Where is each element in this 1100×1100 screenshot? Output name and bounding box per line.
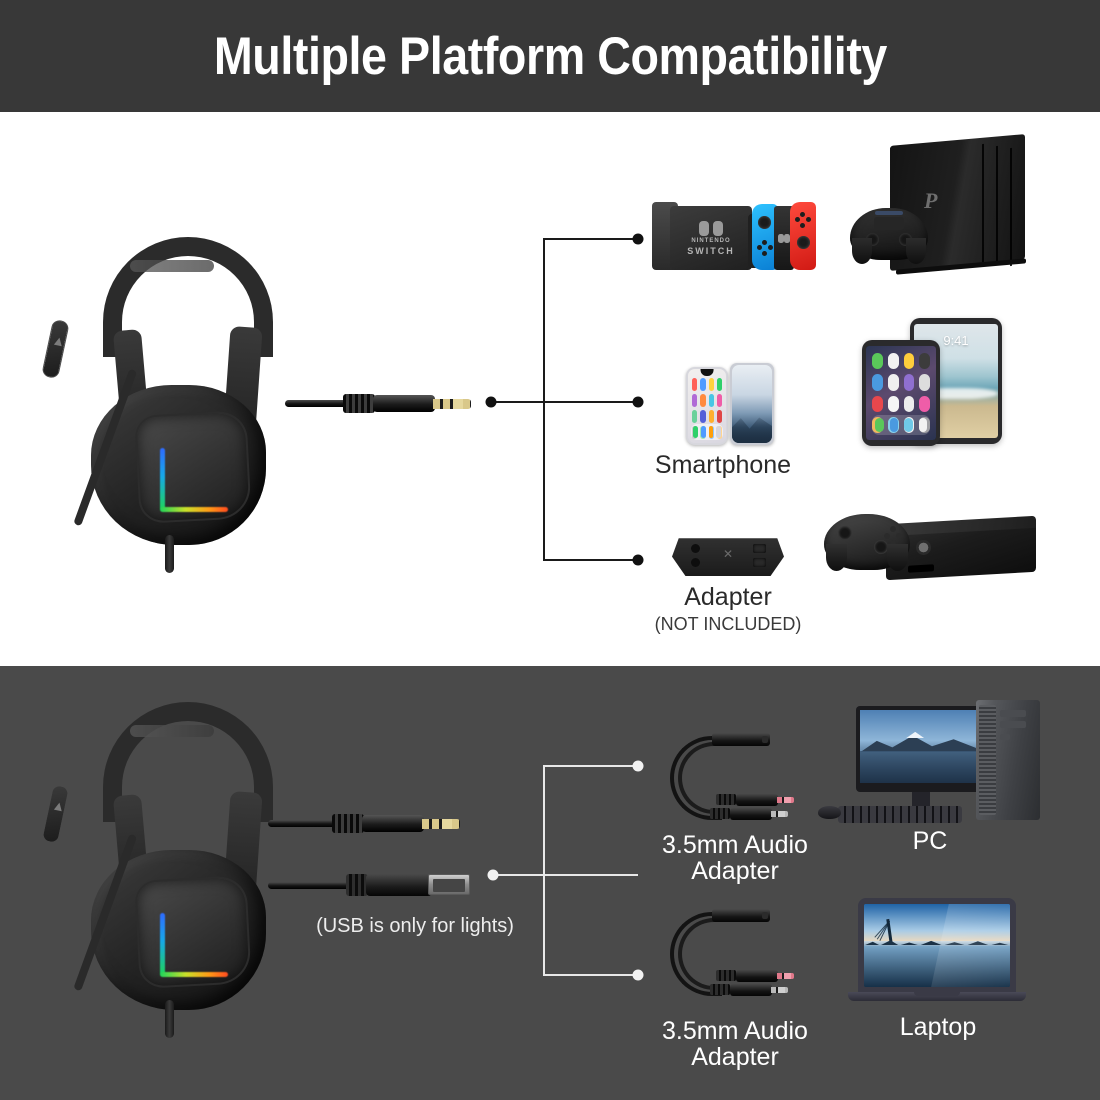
tree-spine-bottom bbox=[543, 765, 545, 975]
tree-node-input-bottom bbox=[488, 870, 499, 881]
splitter-pc-ferrite-audio bbox=[710, 808, 730, 819]
splitter-pc-mic-tip bbox=[777, 797, 794, 803]
splitter-pc-ferrite-mic bbox=[716, 794, 736, 805]
laptop-screen bbox=[864, 904, 1010, 987]
pc-tower-drive-bay-1 bbox=[1000, 710, 1026, 717]
laptop-trackpad-notch bbox=[914, 992, 960, 996]
label-laptop: Laptop bbox=[838, 1014, 1038, 1041]
label-audio-adapter-laptop-line1: 3.5mm Audio bbox=[610, 1018, 860, 1045]
pc-tower-mesh-vent bbox=[979, 705, 996, 815]
audio-splitter-adapter-laptop bbox=[664, 912, 794, 1002]
pc-wallpaper-mountains bbox=[860, 732, 980, 752]
laptop-wallpaper-bridge bbox=[877, 919, 906, 944]
splitter-laptop-audio-tip bbox=[771, 987, 788, 993]
pc-tower-drive-bay-2 bbox=[1000, 721, 1026, 728]
splitter-pc-mic-plug bbox=[736, 794, 778, 806]
pc-tower-power-button[interactable] bbox=[1000, 734, 1010, 740]
infographic-page: Multiple Platform Compatibility bbox=[0, 0, 1100, 1100]
laptop-base bbox=[848, 992, 1026, 1001]
pc-monitor-screen bbox=[860, 710, 980, 783]
laptop-lid bbox=[858, 898, 1016, 994]
splitter-laptop-mic-tip bbox=[777, 973, 794, 979]
audio-splitter-adapter-pc bbox=[664, 736, 794, 826]
pc-wallpaper-snowpeak bbox=[906, 732, 925, 739]
label-audio-adapter-pc-line1: 3.5mm Audio bbox=[610, 832, 860, 859]
splitter-pc-female-socket bbox=[712, 733, 770, 746]
pc-monitor bbox=[856, 706, 984, 792]
desktop-pc bbox=[820, 700, 1040, 835]
tree-node-pc bbox=[633, 761, 644, 772]
tree-branch-laptop bbox=[543, 974, 638, 976]
label-audio-adapter-pc-line2: Adapter bbox=[610, 858, 860, 885]
splitter-laptop-audio-plug bbox=[730, 984, 772, 996]
tree-node-laptop bbox=[633, 970, 644, 981]
splitter-pc-audio-plug bbox=[730, 808, 772, 820]
laptop bbox=[848, 898, 1028, 1008]
label-pc: PC bbox=[830, 828, 1030, 855]
splitter-laptop-ferrite-mic bbox=[716, 970, 736, 981]
pc-keyboard[interactable] bbox=[838, 806, 962, 823]
splitter-laptop-ferrite-audio bbox=[710, 984, 730, 995]
pc-wallpaper-lake-reflection bbox=[860, 751, 980, 783]
tree-branch-pc bbox=[543, 765, 638, 767]
pc-tower-case bbox=[976, 700, 1040, 820]
splitter-laptop-female-socket bbox=[712, 909, 770, 922]
label-audio-adapter-laptop-line2: Adapter bbox=[610, 1044, 860, 1071]
pc-mouse[interactable] bbox=[818, 806, 841, 819]
splitter-laptop-mic-plug bbox=[736, 970, 778, 982]
splitter-pc-audio-tip bbox=[771, 811, 788, 817]
